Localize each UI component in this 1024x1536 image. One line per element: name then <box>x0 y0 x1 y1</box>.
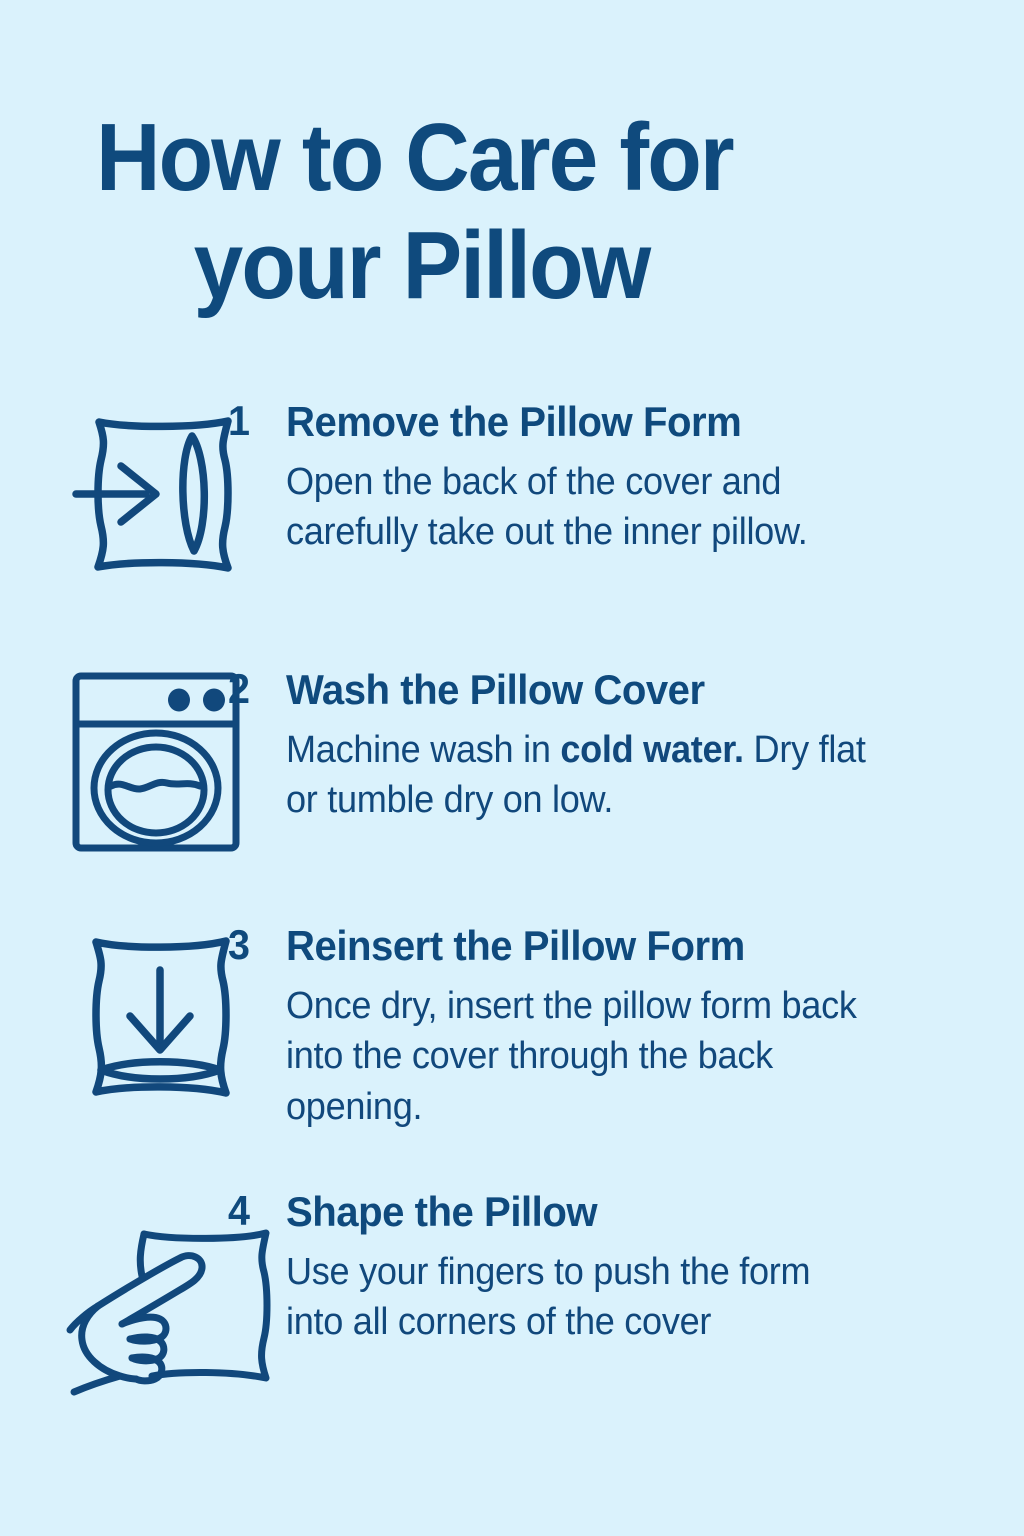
step-heading: Wash the Pillow Cover <box>286 668 878 712</box>
step-description: Open the back of the cover and carefully… <box>286 457 875 558</box>
pillow-down-arrow-icon <box>68 928 228 1108</box>
steps-list: 1 Remove the Pillow Form Open the back o… <box>0 392 1024 1418</box>
step-heading: Shape the Pillow <box>286 1190 878 1234</box>
step-1-body: 1 Remove the Pillow Form Open the back o… <box>228 392 906 558</box>
step-description-text: Machine wash in <box>286 729 560 771</box>
list-item: 4 Shape the Pillow Use your fingers to p… <box>0 1188 1024 1418</box>
step-description: Once dry, insert the pillow form back in… <box>286 981 875 1133</box>
washing-machine-icon <box>68 668 228 856</box>
step-2-icon-wrap <box>0 660 228 856</box>
step-description: Machine wash in cold water. Dry flat or … <box>286 725 875 826</box>
page-title-line-2: your Pillow <box>96 212 747 320</box>
page-title: How to Care for your Pillow <box>96 104 868 319</box>
step-description-text: Use your fingers to push the form into a… <box>286 1251 810 1344</box>
pillow-with-insert-arrow-icon <box>68 406 228 581</box>
step-4-icon-wrap <box>0 1188 228 1393</box>
list-item: 2 Wash the Pillow Cover Machine wash in … <box>0 660 1024 916</box>
step-number: 2 <box>228 668 283 711</box>
step-description-text: Once dry, insert the pillow form back in… <box>286 985 857 1128</box>
step-heading: Remove the Pillow Form <box>286 400 878 444</box>
step-number: 4 <box>228 1190 283 1233</box>
step-heading: Reinsert the Pillow Form <box>286 924 878 968</box>
step-description-emphasis: cold water. <box>560 729 743 771</box>
step-2-body: 2 Wash the Pillow Cover Machine wash in … <box>228 660 906 826</box>
page-title-line-1: How to Care for <box>96 104 868 212</box>
step-4-body: 4 Shape the Pillow Use your fingers to p… <box>228 1188 906 1348</box>
step-3-body: 3 Reinsert the Pillow Form Once dry, ins… <box>228 916 906 1132</box>
step-number: 1 <box>228 400 283 443</box>
step-text: Shape the Pillow Use your fingers to pus… <box>286 1190 906 1348</box>
step-number: 3 <box>228 924 283 967</box>
step-1-icon-wrap <box>0 392 228 581</box>
step-description: Use your fingers to push the form into a… <box>286 1247 875 1348</box>
list-item: 3 Reinsert the Pillow Form Once dry, ins… <box>0 916 1024 1188</box>
list-item: 1 Remove the Pillow Form Open the back o… <box>0 392 1024 660</box>
infographic-page: How to Care for your Pillow <box>0 0 1024 1536</box>
step-text: Wash the Pillow Cover Machine wash in co… <box>286 668 906 826</box>
hand-pointing-pillow-icon <box>48 1218 228 1393</box>
step-text: Reinsert the Pillow Form Once dry, inser… <box>286 924 906 1132</box>
step-3-icon-wrap <box>0 916 228 1108</box>
step-description-text: Open the back of the cover and carefully… <box>286 461 808 554</box>
step-text: Remove the Pillow Form Open the back of … <box>286 400 906 558</box>
